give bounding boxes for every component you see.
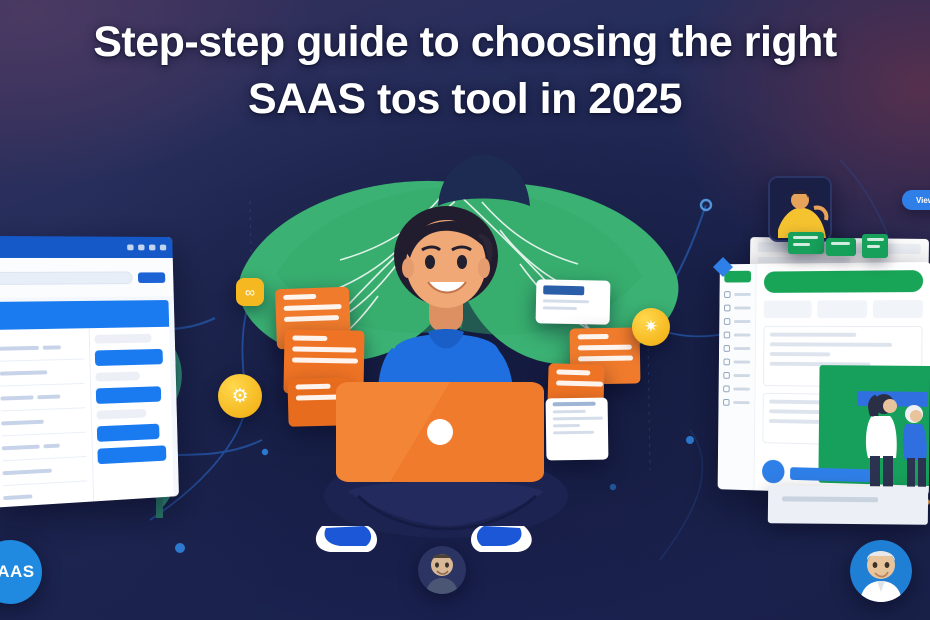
orange-laptop[interactable] bbox=[330, 380, 550, 490]
share-nodes-icon: ⚙ bbox=[231, 385, 248, 408]
eye-left bbox=[425, 255, 435, 269]
list-item bbox=[97, 409, 147, 420]
right-dashboard-base-bar bbox=[768, 485, 928, 525]
left-dashboard-panel[interactable] bbox=[0, 236, 179, 508]
table-row[interactable] bbox=[0, 360, 85, 387]
left-dashboard-topbar bbox=[0, 236, 173, 258]
eye-right bbox=[457, 255, 467, 269]
diamond-accent-icon bbox=[712, 256, 734, 278]
laptop-logo bbox=[427, 419, 453, 445]
search-input[interactable] bbox=[0, 271, 133, 284]
hero-banner[interactable] bbox=[764, 270, 923, 293]
avatar-center-bottom[interactable] bbox=[418, 546, 466, 594]
left-dashboard-header-band bbox=[0, 300, 169, 330]
sidebar-item[interactable] bbox=[724, 345, 751, 352]
network-share-badge[interactable]: ⚙ bbox=[218, 374, 262, 418]
sidebar-item[interactable] bbox=[724, 318, 751, 325]
gear-icon bbox=[723, 385, 729, 392]
stat-card[interactable] bbox=[817, 300, 866, 318]
tag-icon bbox=[723, 372, 729, 379]
hero-title: Step-step guide to choosing the right SA… bbox=[0, 14, 930, 128]
avatar-right-bottom[interactable] bbox=[850, 540, 912, 602]
green-chip[interactable] bbox=[862, 234, 888, 258]
sidebar-item[interactable] bbox=[724, 291, 751, 298]
doc-icon bbox=[723, 399, 729, 406]
title-line-1: Step-step guide to choosing the right bbox=[10, 14, 920, 71]
left-dashboard-chat-panel bbox=[89, 327, 174, 502]
view-pill-button[interactable]: View bbox=[902, 190, 930, 210]
right-dashboard-sidebar bbox=[718, 264, 757, 490]
bell-icon[interactable] bbox=[127, 244, 134, 250]
left-dashboard-body bbox=[0, 327, 174, 508]
hero-illustration: Step-step guide to choosing the right SA… bbox=[0, 0, 930, 620]
integration-badge[interactable]: ∞ bbox=[236, 278, 264, 306]
settings-icon[interactable] bbox=[149, 245, 155, 251]
list-item[interactable] bbox=[98, 445, 167, 464]
stat-card[interactable] bbox=[764, 300, 812, 318]
users-icon bbox=[724, 332, 730, 339]
table-row[interactable] bbox=[0, 384, 85, 412]
primary-action-button[interactable] bbox=[138, 272, 165, 283]
sidebar-item[interactable] bbox=[723, 359, 750, 366]
sidebar-item[interactable] bbox=[723, 372, 750, 379]
cart-icon[interactable] bbox=[138, 245, 145, 251]
green-chip[interactable] bbox=[826, 238, 856, 256]
user-icon[interactable] bbox=[160, 245, 166, 251]
folder-icon bbox=[724, 318, 730, 325]
seated-man-with-laptop bbox=[296, 196, 596, 556]
chat-fab-button[interactable] bbox=[762, 460, 785, 484]
list-item bbox=[95, 334, 152, 344]
infinity-icon: ∞ bbox=[245, 284, 255, 300]
sparkle-icon: ✷ bbox=[644, 317, 658, 337]
stat-row bbox=[764, 300, 923, 318]
list-item[interactable] bbox=[96, 386, 161, 404]
title-line-2: SAAS tos tool in 2025 bbox=[10, 71, 920, 128]
sidebar-item[interactable] bbox=[723, 399, 750, 406]
list-item bbox=[96, 372, 140, 382]
table-row[interactable] bbox=[0, 335, 84, 362]
automation-badge[interactable]: ✷ bbox=[632, 308, 670, 346]
calendar-icon bbox=[724, 345, 730, 352]
home-icon bbox=[724, 291, 730, 298]
list-item[interactable] bbox=[97, 424, 159, 442]
sidebar-item[interactable] bbox=[723, 385, 750, 392]
left-dashboard-table bbox=[0, 328, 93, 507]
list-item[interactable] bbox=[95, 349, 163, 366]
mail-icon bbox=[723, 359, 729, 366]
sidebar-item[interactable] bbox=[724, 305, 751, 312]
chart-icon bbox=[724, 305, 730, 312]
stat-card[interactable] bbox=[872, 300, 922, 318]
left-dashboard-searchbar bbox=[0, 258, 174, 298]
green-chip[interactable] bbox=[788, 232, 824, 254]
sidebar-item[interactable] bbox=[724, 332, 751, 339]
